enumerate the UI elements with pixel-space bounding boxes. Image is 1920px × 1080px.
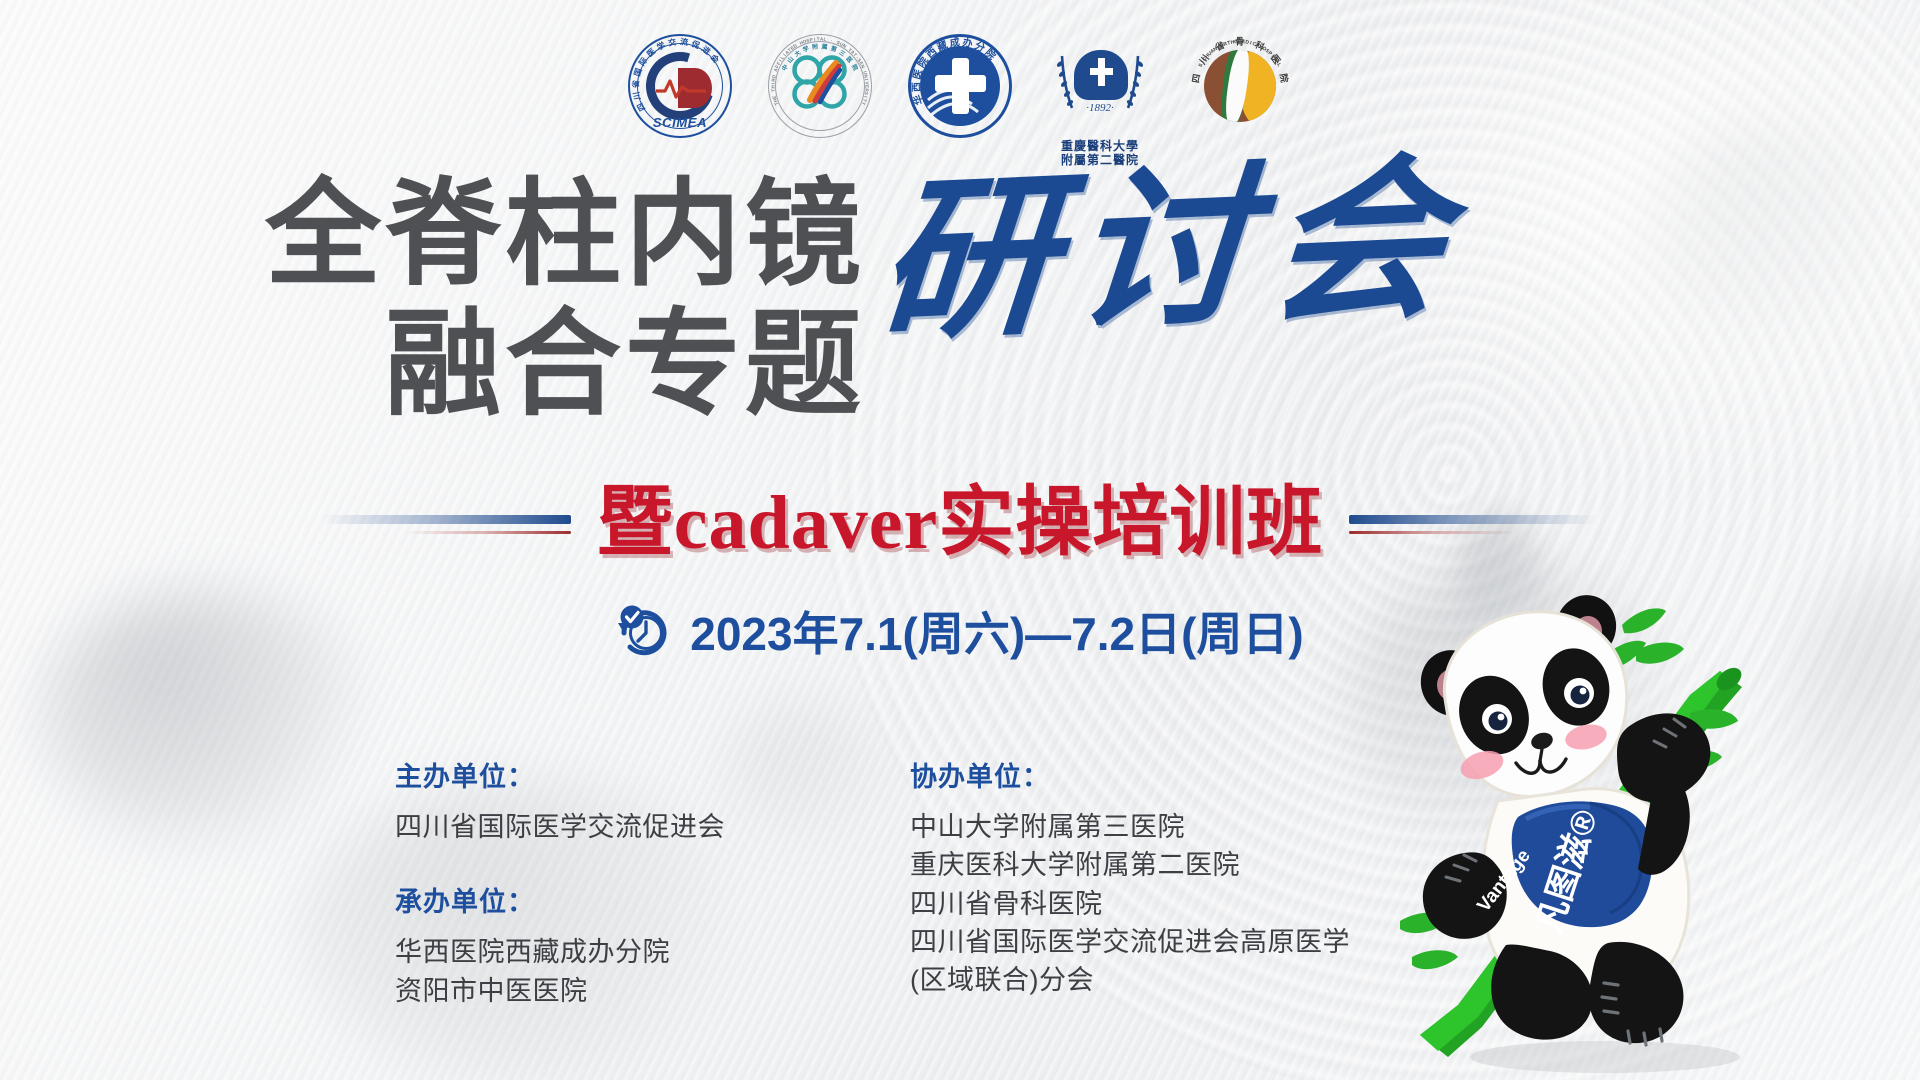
undertaker-label: 承办单位：	[395, 880, 815, 919]
sun-yat-sen-ring-text-cn: 中山大学附属第三医院	[768, 34, 872, 138]
caption-line-1: 重慶醫科大學	[1061, 140, 1139, 154]
panda-with-bamboo-icon: 凡图滋®	[1390, 565, 1910, 1080]
chongqing-medical-second-hospital-logo-icon: ·1892·	[1048, 34, 1152, 138]
host-label: 主办单位：	[395, 755, 815, 794]
sichuan-orthopedic-hospital-logo-icon: 四川省骨科医院SICHUAN ORTHOPEDIC HOSPITAL	[1188, 34, 1292, 138]
caption-line-2: 附屬第二醫院	[1061, 154, 1139, 168]
rule-blue-bar	[321, 515, 571, 524]
host-item: 四川省国际医学交流促进会	[395, 808, 815, 846]
logo-sun-yat-sen-third-hospital: THE THIRD AFFILIATED HOSPITAL · SUN YAT-…	[768, 34, 872, 138]
sun-yat-sen-third-hospital-logo-icon: THE THIRD AFFILIATED HOSPITAL · SUN YAT-…	[768, 34, 872, 138]
rule-blue-bar	[1349, 515, 1599, 524]
subtitle-row: 暨cadaver实操培训班	[0, 478, 1920, 568]
west-china-tibet-branch-logo-icon: 华西医院西藏成办分院	[908, 34, 1012, 138]
coorganizer-item: 中山大学附属第三医院	[910, 808, 1380, 846]
scimea-ring-text: 四川省国际医学交流促进会	[628, 34, 732, 138]
coorganizer-item: 四川省骨科医院	[910, 885, 1380, 923]
organizer-section: 主办单位： 四川省国际医学交流促进会 承办单位： 华西医院西藏成办分院 资阳市中…	[395, 755, 1380, 1010]
clock-check-icon	[616, 603, 672, 659]
brush-calligraphy-word: 研讨会	[872, 149, 1470, 350]
main-title: 全脊柱内镜 融合专题	[205, 170, 865, 430]
logo-chongqing-medical-second-hospital: ·1892· 重慶醫科大學 附屬第二醫院	[1048, 34, 1152, 168]
sichuan-orthopedic-ring-text-en: SICHUAN ORTHOPEDIC HOSPITAL	[1188, 34, 1292, 138]
coorganizer-item: (区域联合)分会	[910, 961, 1380, 999]
headline-area: 全脊柱内镜 融合专题 研讨会	[0, 170, 1920, 460]
rule-red-bar	[1349, 531, 1539, 534]
undertaker-item: 华西医院西藏成办分院	[395, 933, 815, 971]
organizer-column-right: 协办单位： 中山大学附属第三医院 重庆医科大学附属第二医院 四川省骨科医院 四川…	[910, 755, 1380, 1010]
logo-west-china-tibet-branch: 华西医院西藏成办分院	[908, 34, 1012, 138]
coorganizer-item: 四川省国际医学交流促进会高原医学	[910, 923, 1380, 961]
title-line-1: 全脊柱内镜	[205, 170, 865, 300]
event-date: 2023年7.1(周六)—7.2日(周日)	[690, 598, 1304, 664]
logo-scimea: SCIMEA 四川省国际医学交流促进会	[628, 34, 732, 138]
title-line-2: 融合专题	[205, 300, 865, 430]
chongqing-hospital-caption: 重慶醫科大學 附屬第二醫院	[1061, 140, 1139, 168]
decorative-rule-left	[321, 509, 571, 537]
scimea-logo-icon: SCIMEA 四川省国际医学交流促进会	[628, 34, 732, 138]
panda-mascot: 凡图滋®	[1390, 565, 1910, 1080]
coorganizer-label: 协办单位：	[910, 755, 1380, 794]
subtitle-text: 暨cadaver实操培训班	[597, 485, 1323, 561]
founding-year: ·1892·	[1048, 102, 1152, 114]
rule-red-bar	[381, 531, 571, 534]
column-spacer	[395, 846, 815, 880]
sponsor-logo-strip: SCIMEA 四川省国际医学交流促进会	[0, 34, 1920, 168]
decorative-rule-right	[1349, 509, 1599, 537]
west-china-ring-text: 华西医院西藏成办分院	[908, 34, 1012, 138]
conference-poster: SCIMEA 四川省国际医学交流促进会	[0, 0, 1920, 1080]
undertaker-item: 资阳市中医医院	[395, 972, 815, 1010]
coorganizer-item: 重庆医科大学附属第二医院	[910, 846, 1380, 884]
logo-sichuan-orthopedic-hospital: 四川省骨科医院SICHUAN ORTHOPEDIC HOSPITAL	[1188, 34, 1292, 138]
organizer-column-left: 主办单位： 四川省国际医学交流促进会 承办单位： 华西医院西藏成办分院 资阳市中…	[395, 755, 815, 1010]
